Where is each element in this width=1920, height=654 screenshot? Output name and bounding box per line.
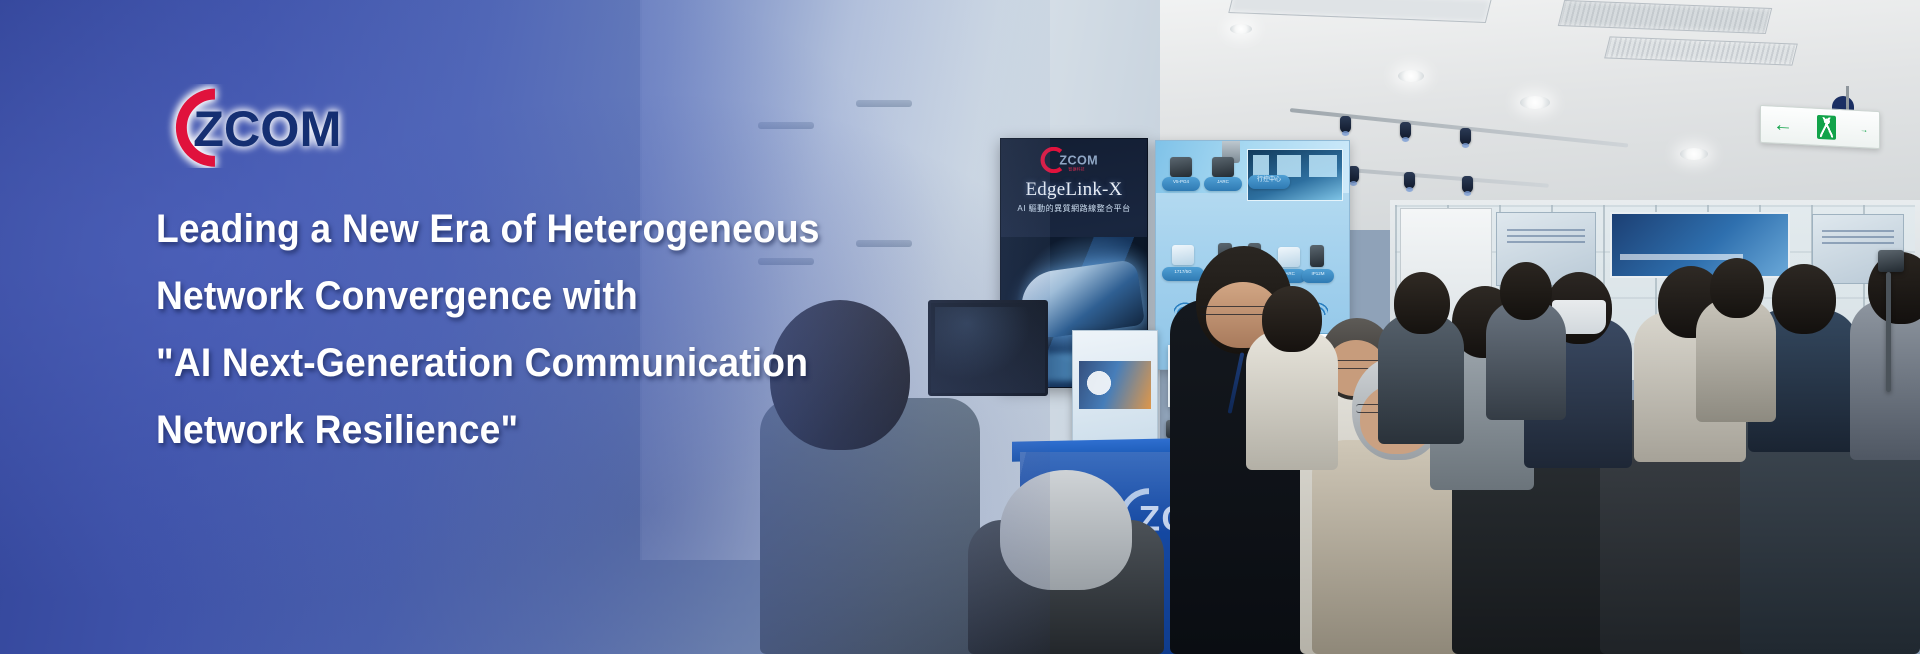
ceiling-downlight <box>1520 96 1550 109</box>
ceiling-downlight <box>1230 24 1252 34</box>
spotlight <box>1460 128 1471 145</box>
device-icon <box>1310 245 1324 267</box>
banner-content: ZCOM ZCOM Leading a New Era of Heterogen… <box>0 0 1050 654</box>
attendee-head <box>1500 262 1552 320</box>
spotlight <box>1404 172 1415 189</box>
spotlight <box>1462 176 1473 193</box>
attendee-body <box>1850 300 1920 460</box>
device-label: IP12M <box>1302 269 1334 283</box>
attendee-head <box>1394 272 1450 334</box>
zcom-logo: ZCOM ZCOM <box>152 84 372 168</box>
device-icon <box>1278 247 1300 267</box>
headline-line-2: Network Convergence with <box>156 263 863 330</box>
hero-banner: ← → ZCOM 智捷科技 EdgeLink-X AI 驅動的異質網路線整合平台 <box>0 0 1920 654</box>
svg-text:ZCOM: ZCOM <box>1059 153 1098 167</box>
ceiling-downlight <box>1680 148 1708 160</box>
headline: Leading a New Era of Heterogeneous Netwo… <box>156 196 916 464</box>
device-label: V5-PG4 <box>1162 177 1200 191</box>
running-man-icon <box>1817 115 1836 140</box>
device-icon <box>1212 157 1234 177</box>
spotlight <box>1340 116 1351 133</box>
exit-sign: ← → <box>1760 105 1880 149</box>
exit-sign-label: → <box>1860 125 1867 134</box>
attendee-head <box>1772 264 1836 334</box>
headline-line-1: Leading a New Era of Heterogeneous <box>156 196 863 263</box>
svg-text:智捷科技: 智捷科技 <box>1068 165 1084 171</box>
product-standee <box>1072 330 1158 442</box>
arrow-left-icon: ← <box>1773 115 1793 136</box>
device-label: JARC <box>1204 177 1242 191</box>
headline-line-3: "AI Next-Generation Communication <box>156 330 863 397</box>
ceiling-downlight <box>1398 70 1424 82</box>
spotlight <box>1400 122 1411 139</box>
camera-icon <box>1878 250 1904 272</box>
exit-sign-hanger <box>1846 86 1849 110</box>
tripod <box>1886 272 1891 392</box>
device-icon <box>1170 157 1192 177</box>
device-label: 1717/5G <box>1162 267 1204 281</box>
zcom-wordmark: ZCOM <box>193 100 341 157</box>
device-icon <box>1172 245 1194 265</box>
attendee-head <box>1262 286 1322 352</box>
control-center-label: 行控中心 <box>1248 175 1290 189</box>
zcom-logo-icon: ZCOM ZCOM <box>152 84 372 168</box>
attendee-head <box>1710 258 1764 318</box>
headline-line-4: Network Resilience" <box>156 397 863 464</box>
